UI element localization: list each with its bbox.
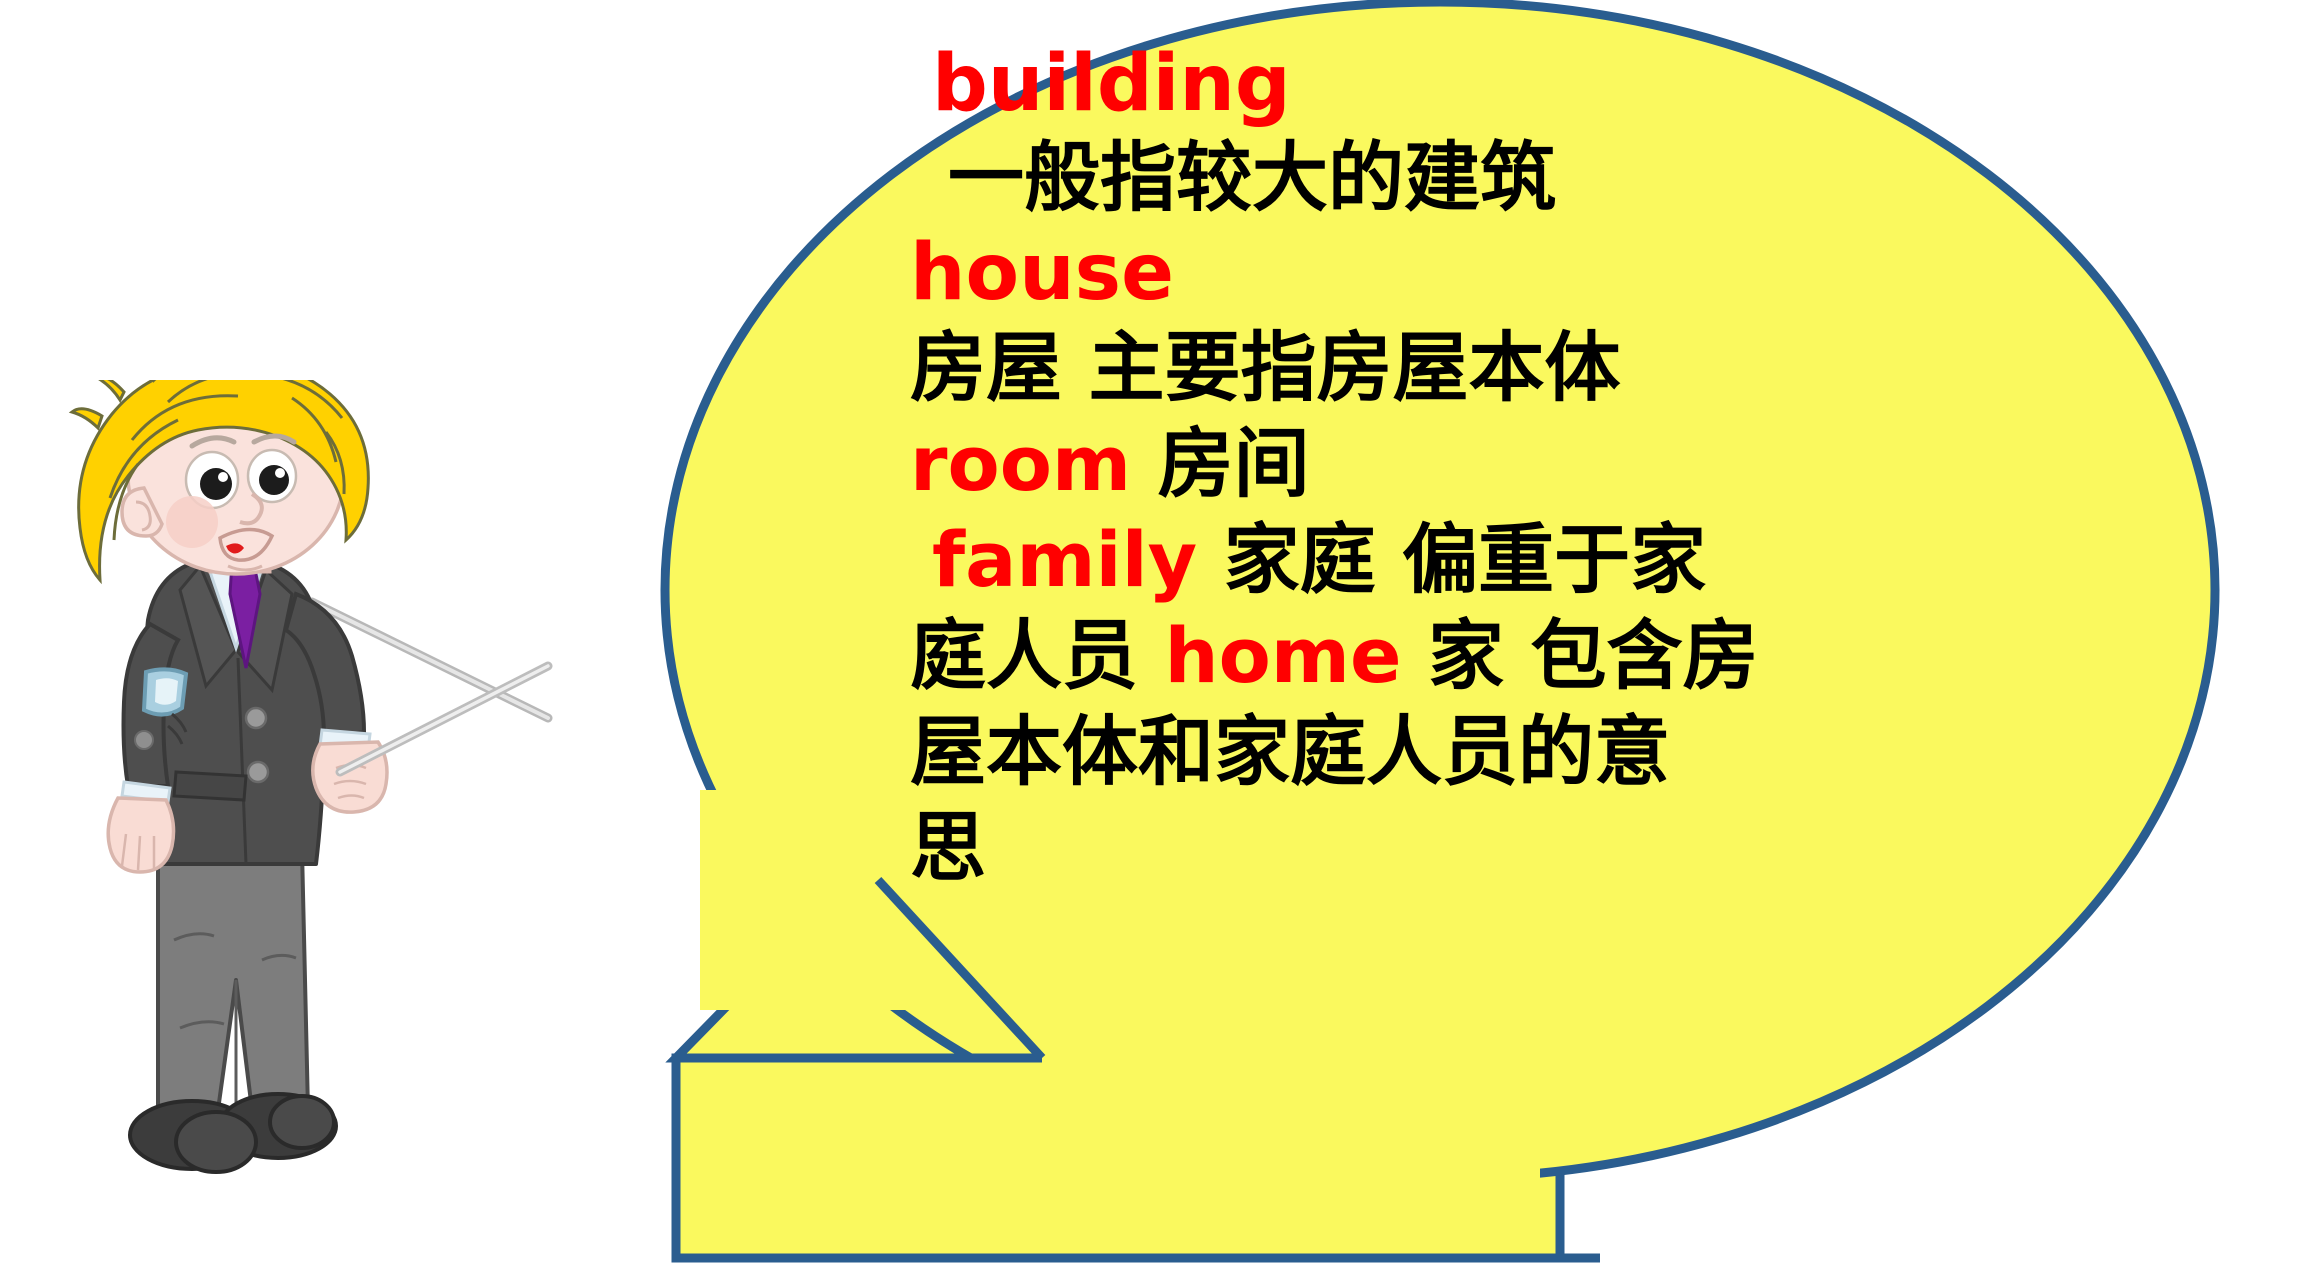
- text-line-room: room 房间: [910, 416, 2100, 512]
- sleeve-badge-icon: [144, 669, 186, 714]
- text-line-building-definition: 一般指较大的建筑: [910, 130, 2100, 226]
- head: [72, 380, 368, 580]
- definition-family: 家庭 偏重于家: [1197, 515, 1706, 604]
- definition-home-end: 思: [910, 803, 986, 892]
- text-line-house-definition: 房屋 主要指房屋本体: [910, 320, 2100, 416]
- definition-family-continued: 庭人员: [910, 611, 1164, 700]
- trousers: [158, 850, 308, 1110]
- bubble-tail-inner: [676, 1062, 1540, 1250]
- cartoon-schoolboy-illustration: [40, 380, 560, 1210]
- shoes: [130, 1094, 336, 1172]
- term-family: family: [932, 515, 1197, 604]
- term-room: room: [910, 419, 1131, 508]
- definition-home: 家 包含房: [1402, 611, 1759, 700]
- text-line-home: 庭人员 home 家 包含房: [910, 608, 2100, 704]
- text-line-home-definition-1: 屋本体和家庭人员的意: [910, 704, 2100, 800]
- text-line-house: house: [910, 226, 2100, 320]
- bubble-text-block: building 一般指较大的建筑 house 房屋 主要指房屋本体 room …: [910, 38, 2100, 896]
- term-home: home: [1164, 611, 1401, 700]
- text-line-building: building: [910, 38, 2100, 130]
- cheek-blush: [166, 496, 218, 548]
- text-line-family: family 家庭 偏重于家: [910, 512, 2100, 608]
- definition-house: 房屋 主要指房屋本体: [910, 323, 1620, 412]
- text-line-home-definition-2: 思: [910, 800, 2100, 896]
- definition-home-continued: 屋本体和家庭人员的意: [910, 707, 1670, 796]
- definition-building: 一般指较大的建筑: [948, 133, 1556, 222]
- term-house: house: [910, 228, 1174, 318]
- slide-canvas: building 一般指较大的建筑 house 房屋 主要指房屋本体 room …: [0, 0, 2311, 1280]
- pointer-stick-highlight: [340, 666, 548, 772]
- term-building: building: [932, 39, 1291, 129]
- definition-room: 房间: [1131, 419, 1309, 508]
